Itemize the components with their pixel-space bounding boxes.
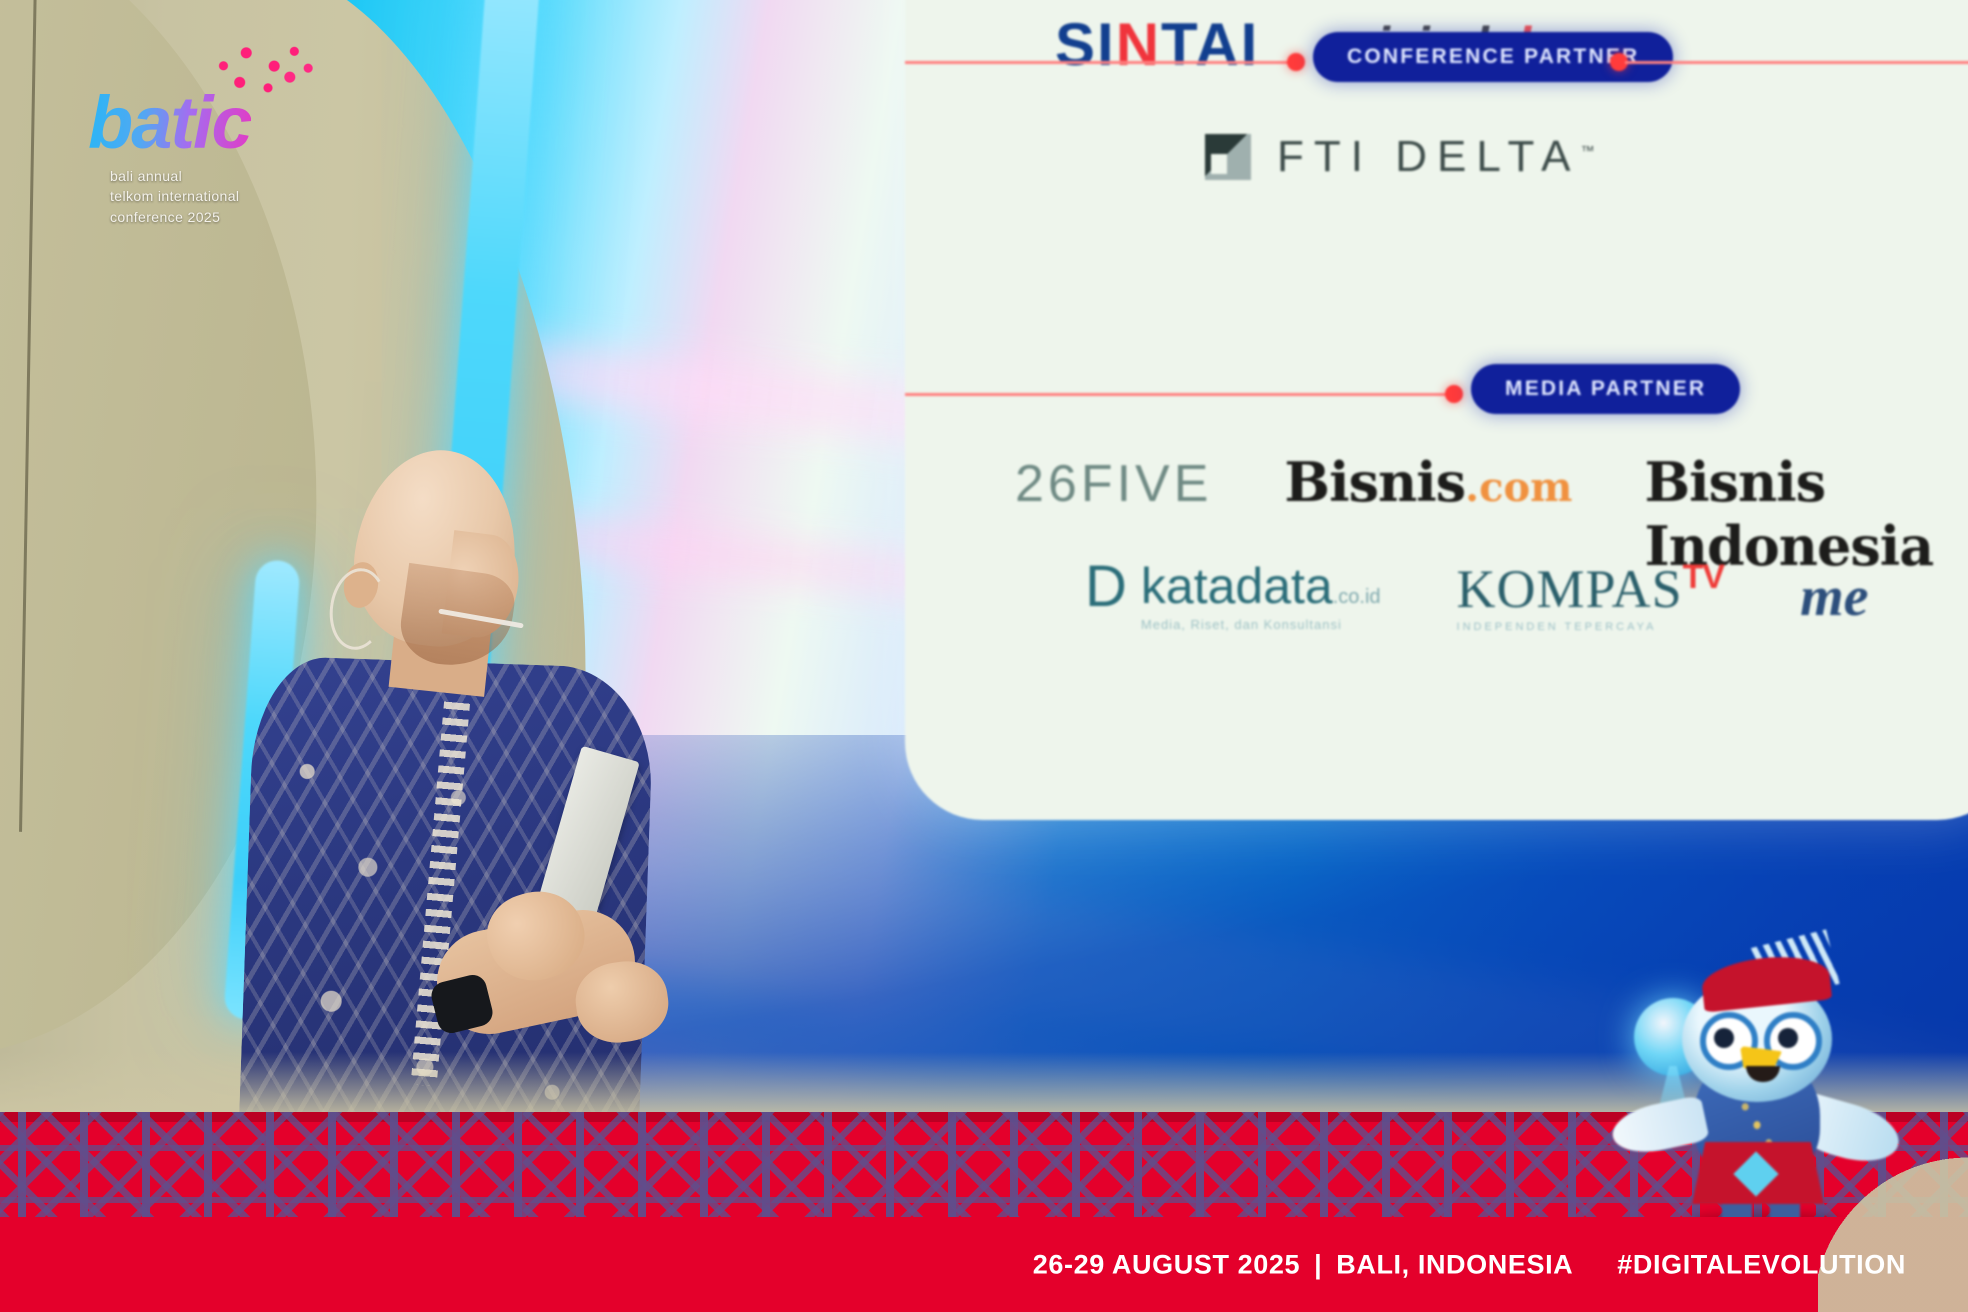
bisnis-com-logo: Bisnis.com: [1284, 450, 1572, 514]
footer-text-group: 26-29 AUGUST 2025 | BALI, INDONESIA #DIG…: [1033, 1249, 1906, 1280]
divider-dot-media: [1445, 385, 1463, 403]
katadata-domain-suffix: .co.id: [1333, 586, 1381, 608]
26five-logo: 26FIVE: [1015, 454, 1212, 514]
katadata-wordmark: katadata: [1141, 558, 1333, 614]
media-partner-badge: MEDIA PARTNER: [1471, 364, 1740, 414]
fti-delta-wordmark: FTI DELTA: [1277, 132, 1581, 181]
mascot-pupil-left: [1714, 1028, 1734, 1048]
tv-suffix: TV: [1683, 558, 1724, 596]
divider-line-right: [1625, 61, 1968, 64]
katadata-d-mark: D: [1085, 561, 1127, 613]
trademark-glyph: ™: [1581, 142, 1595, 158]
sintai-text-after: TAI: [1161, 11, 1259, 78]
kompas-tagline: INDEPENDEN TEPERCAYA: [1457, 621, 1725, 633]
event-dates: 26-29 AUGUST 2025: [1033, 1249, 1300, 1280]
mascot-pupil-right: [1778, 1028, 1798, 1048]
tagline-line-2: telkom international: [110, 186, 239, 206]
event-footer-bar: 26-29 AUGUST 2025 | BALI, INDONESIA #DIG…: [0, 1217, 1968, 1312]
batic-wordmark: batic: [88, 80, 251, 165]
divider-line-media-left: [905, 393, 1455, 396]
sintai-mark-glyph: N: [1116, 11, 1161, 78]
footer-separator: |: [1314, 1249, 1322, 1280]
bisnis-wordmark: Bisnis: [1284, 450, 1465, 514]
media-partner-logo-row-2: D katadata.co.id Media, Riset, dan Konsu…: [1085, 560, 1869, 633]
kompas-tv-logo: KOMPASTV INDEPENDEN TEPERCAYA: [1457, 560, 1725, 633]
tagline-line-3: conference 2025: [110, 207, 239, 227]
event-location: BALI, INDONESIA: [1336, 1249, 1573, 1280]
fti-delta-mark-icon: [1205, 134, 1251, 180]
divider-dot-left: [1287, 53, 1305, 71]
batic-tagline: bali annual telkom international confere…: [110, 166, 239, 227]
katadata-logo: D katadata.co.id Media, Riset, dan Konsu…: [1085, 561, 1381, 632]
event-hashtag: #DIGITALEVOLUTION: [1617, 1249, 1906, 1280]
katadata-tagline: Media, Riset, dan Konsultansi: [1141, 617, 1381, 632]
sintai-text-before: SI: [1055, 11, 1116, 78]
dotcom-suffix: .com: [1465, 464, 1572, 511]
fti-delta-logo: FTI DELTA™: [1205, 132, 1595, 182]
sponsor-slide-card: SINTAI sisindokom CONFERENCE PARTNER FTI…: [905, 0, 1968, 820]
medcom-partial-logo: me: [1800, 565, 1868, 629]
mascot-balinese-skirt: [1692, 1142, 1824, 1204]
divider-line-left: [905, 61, 1295, 64]
batic-venue-logo: batic bali annual telkom international c…: [88, 34, 298, 214]
tagline-line-1: bali annual: [110, 166, 239, 186]
sintai-logo: SINTAI: [1055, 10, 1259, 79]
kompas-wordmark: KOMPAS: [1457, 559, 1683, 619]
mascot-arm: [1608, 1095, 1710, 1160]
conference-stage-photo: SINTAI sisindokom CONFERENCE PARTNER FTI…: [0, 0, 1968, 1312]
